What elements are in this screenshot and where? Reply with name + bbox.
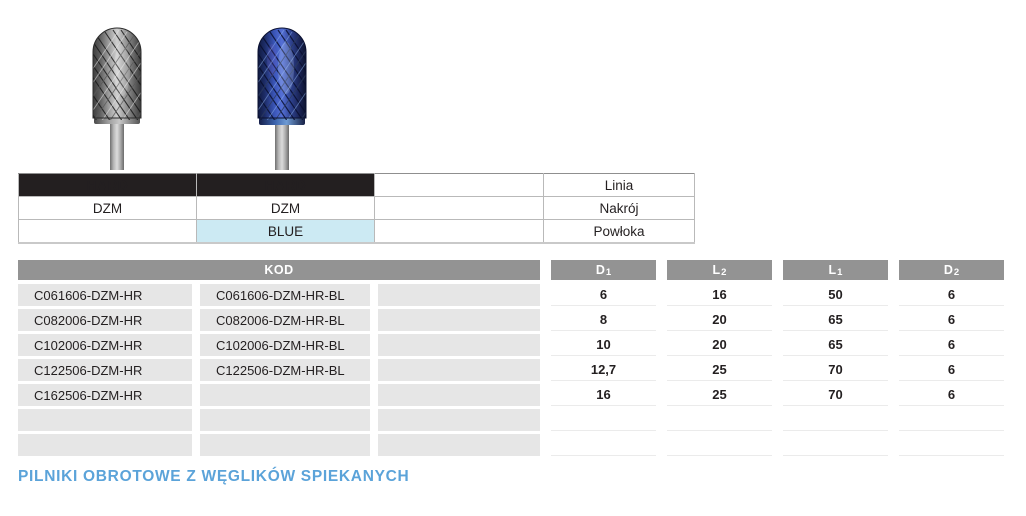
cell-spacer (540, 284, 551, 306)
cell-spacer (540, 409, 551, 431)
cell-l1: 70 (783, 384, 888, 406)
cell-code-hard: C102006-DZM-HR (18, 334, 192, 356)
table-row[interactable]: C122506-DZM-HR C122506-DZM-HR-BL 12,7 25… (18, 359, 1008, 381)
catalog-page: HARD HARD Linia DZM DZM Nakrój BLUE Powł… (0, 0, 1026, 516)
column-header-d1-label: D (596, 263, 606, 277)
cell-spacer (540, 434, 551, 456)
spec-cell-variant-3 (375, 174, 544, 197)
cell-spacer (192, 334, 200, 356)
cell-spacer (540, 359, 551, 381)
spec-label-nakroj: Nakrój (544, 197, 695, 220)
header-spacer (656, 260, 667, 280)
cell-code-blue: C122506-DZM-HR-BL (200, 359, 370, 381)
cell-d1: 12,7 (551, 359, 656, 381)
cell-code-blue (200, 434, 370, 456)
spec-row-powloka: BLUE Powłoka (19, 220, 695, 244)
cell-spacer (370, 409, 378, 431)
column-header-d2: D2 (899, 260, 1004, 280)
cell-d2 (899, 409, 1004, 431)
table-row[interactable]: C102006-DZM-HR C102006-DZM-HR-BL 10 20 6… (18, 334, 1008, 356)
column-header-l2-label: L (713, 263, 721, 277)
cell-l1: 50 (783, 284, 888, 306)
column-header-l2: L2 (667, 260, 772, 280)
cell-code-hard (18, 434, 192, 456)
cell-spacer (772, 409, 783, 431)
spec-cell-coating-2: BLUE (197, 220, 375, 244)
cell-spacer (656, 334, 667, 356)
cell-code-hard: C082006-DZM-HR (18, 309, 192, 331)
cell-d1: 16 (551, 384, 656, 406)
cell-code-extra (378, 384, 540, 406)
cell-spacer (772, 309, 783, 331)
column-header-d2-label: D (944, 263, 954, 277)
cell-spacer (370, 434, 378, 456)
cell-spacer (540, 309, 551, 331)
spec-cell-variant-2: HARD (197, 174, 375, 197)
product-image-rotary-burr-silver (75, 8, 195, 170)
cell-d2 (899, 434, 1004, 456)
cell-code-blue (200, 384, 370, 406)
cell-code-hard: C122506-DZM-HR (18, 359, 192, 381)
cell-code-blue (200, 409, 370, 431)
spec-row-linia: HARD HARD Linia (19, 174, 695, 197)
cell-code-extra (378, 434, 540, 456)
cell-spacer (656, 309, 667, 331)
table-row[interactable]: C162506-DZM-HR 16 25 70 6 (18, 384, 1008, 406)
cell-d1 (551, 434, 656, 456)
cell-code-extra (378, 334, 540, 356)
column-header-kod-label: KOD (264, 263, 293, 277)
cell-code-extra (378, 359, 540, 381)
column-header-kod: KOD (18, 260, 540, 280)
cell-spacer (370, 384, 378, 406)
cell-l2: 25 (667, 359, 772, 381)
cell-spacer (888, 384, 899, 406)
cell-code-blue: C061606-DZM-HR-BL (200, 284, 370, 306)
spec-cell-cut-3 (375, 197, 544, 220)
cell-l1 (783, 434, 888, 456)
cell-spacer (656, 434, 667, 456)
cell-d2: 6 (899, 284, 1004, 306)
spec-row-nakroj: DZM DZM Nakrój (19, 197, 695, 220)
cell-d1: 10 (551, 334, 656, 356)
cell-code-extra (378, 309, 540, 331)
cell-l1: 65 (783, 309, 888, 331)
header-spacer (888, 260, 899, 280)
cell-spacer (772, 359, 783, 381)
table-row[interactable] (18, 409, 1008, 431)
cell-d2: 6 (899, 384, 1004, 406)
table-row[interactable]: C082006-DZM-HR C082006-DZM-HR-BL 8 20 65… (18, 309, 1008, 331)
cell-l1: 65 (783, 334, 888, 356)
cell-code-extra (378, 409, 540, 431)
table-row[interactable] (18, 434, 1008, 456)
cell-d2: 6 (899, 334, 1004, 356)
cell-d1: 6 (551, 284, 656, 306)
column-header-d1: D1 (551, 260, 656, 280)
column-header-l1-label: L (829, 263, 837, 277)
cell-spacer (656, 284, 667, 306)
cell-spacer (888, 309, 899, 331)
cell-l2: 20 (667, 309, 772, 331)
spec-cell-cut-2: DZM (197, 197, 375, 220)
cell-l1 (783, 409, 888, 431)
product-image-rotary-burr-blue (240, 8, 360, 170)
spec-cell-cut-1: DZM (19, 197, 197, 220)
cell-spacer (192, 359, 200, 381)
cell-spacer (370, 284, 378, 306)
cell-l2: 16 (667, 284, 772, 306)
cell-code-hard: C061606-DZM-HR (18, 284, 192, 306)
cell-spacer (192, 384, 200, 406)
product-data-table: KOD D1 L2 L1 D2 C061606-DZM-HR C061606-D… (18, 260, 1008, 459)
data-table-header-row: KOD D1 L2 L1 D2 (18, 260, 1008, 280)
cell-code-hard (18, 409, 192, 431)
spec-label-powloka: Powłoka (544, 220, 695, 244)
page-title: PILNIKI OBROTOWE Z WĘGLIKÓW SPIEKANYCH (18, 468, 409, 486)
cell-l2: 20 (667, 334, 772, 356)
spec-cell-coating-3 (375, 220, 544, 244)
cell-spacer (772, 334, 783, 356)
spec-label-linia: Linia (544, 174, 695, 197)
cell-spacer (888, 434, 899, 456)
cell-spacer (888, 334, 899, 356)
cell-spacer (656, 409, 667, 431)
cell-code-extra (378, 284, 540, 306)
cell-code-blue: C102006-DZM-HR-BL (200, 334, 370, 356)
cell-spacer (540, 334, 551, 356)
cell-l2 (667, 409, 772, 431)
cell-l1: 70 (783, 359, 888, 381)
cell-spacer (656, 384, 667, 406)
cell-spacer (192, 284, 200, 306)
cell-code-hard: C162506-DZM-HR (18, 384, 192, 406)
header-spacer (772, 260, 783, 280)
table-row[interactable]: C061606-DZM-HR C061606-DZM-HR-BL 6 16 50… (18, 284, 1008, 306)
cell-spacer (888, 359, 899, 381)
cell-spacer (192, 309, 200, 331)
cell-d1: 8 (551, 309, 656, 331)
spec-cell-variant-1: HARD (19, 174, 197, 197)
cell-spacer (370, 309, 378, 331)
cell-code-blue: C082006-DZM-HR-BL (200, 309, 370, 331)
cell-spacer (772, 284, 783, 306)
specification-table: HARD HARD Linia DZM DZM Nakrój BLUE Powł… (18, 173, 695, 244)
cell-l2 (667, 434, 772, 456)
cell-spacer (888, 284, 899, 306)
column-header-l1: L1 (783, 260, 888, 280)
cell-spacer (370, 334, 378, 356)
cell-spacer (772, 384, 783, 406)
cell-spacer (370, 359, 378, 381)
cell-spacer (888, 409, 899, 431)
cell-l2: 25 (667, 384, 772, 406)
cell-spacer (192, 409, 200, 431)
product-image-row (0, 0, 1026, 170)
cell-spacer (772, 434, 783, 456)
cell-d2: 6 (899, 309, 1004, 331)
cell-d2: 6 (899, 359, 1004, 381)
cell-spacer (540, 384, 551, 406)
cell-spacer (192, 434, 200, 456)
cell-spacer (656, 359, 667, 381)
cell-d1 (551, 409, 656, 431)
header-spacer (540, 260, 551, 280)
spec-cell-coating-1 (19, 220, 197, 244)
